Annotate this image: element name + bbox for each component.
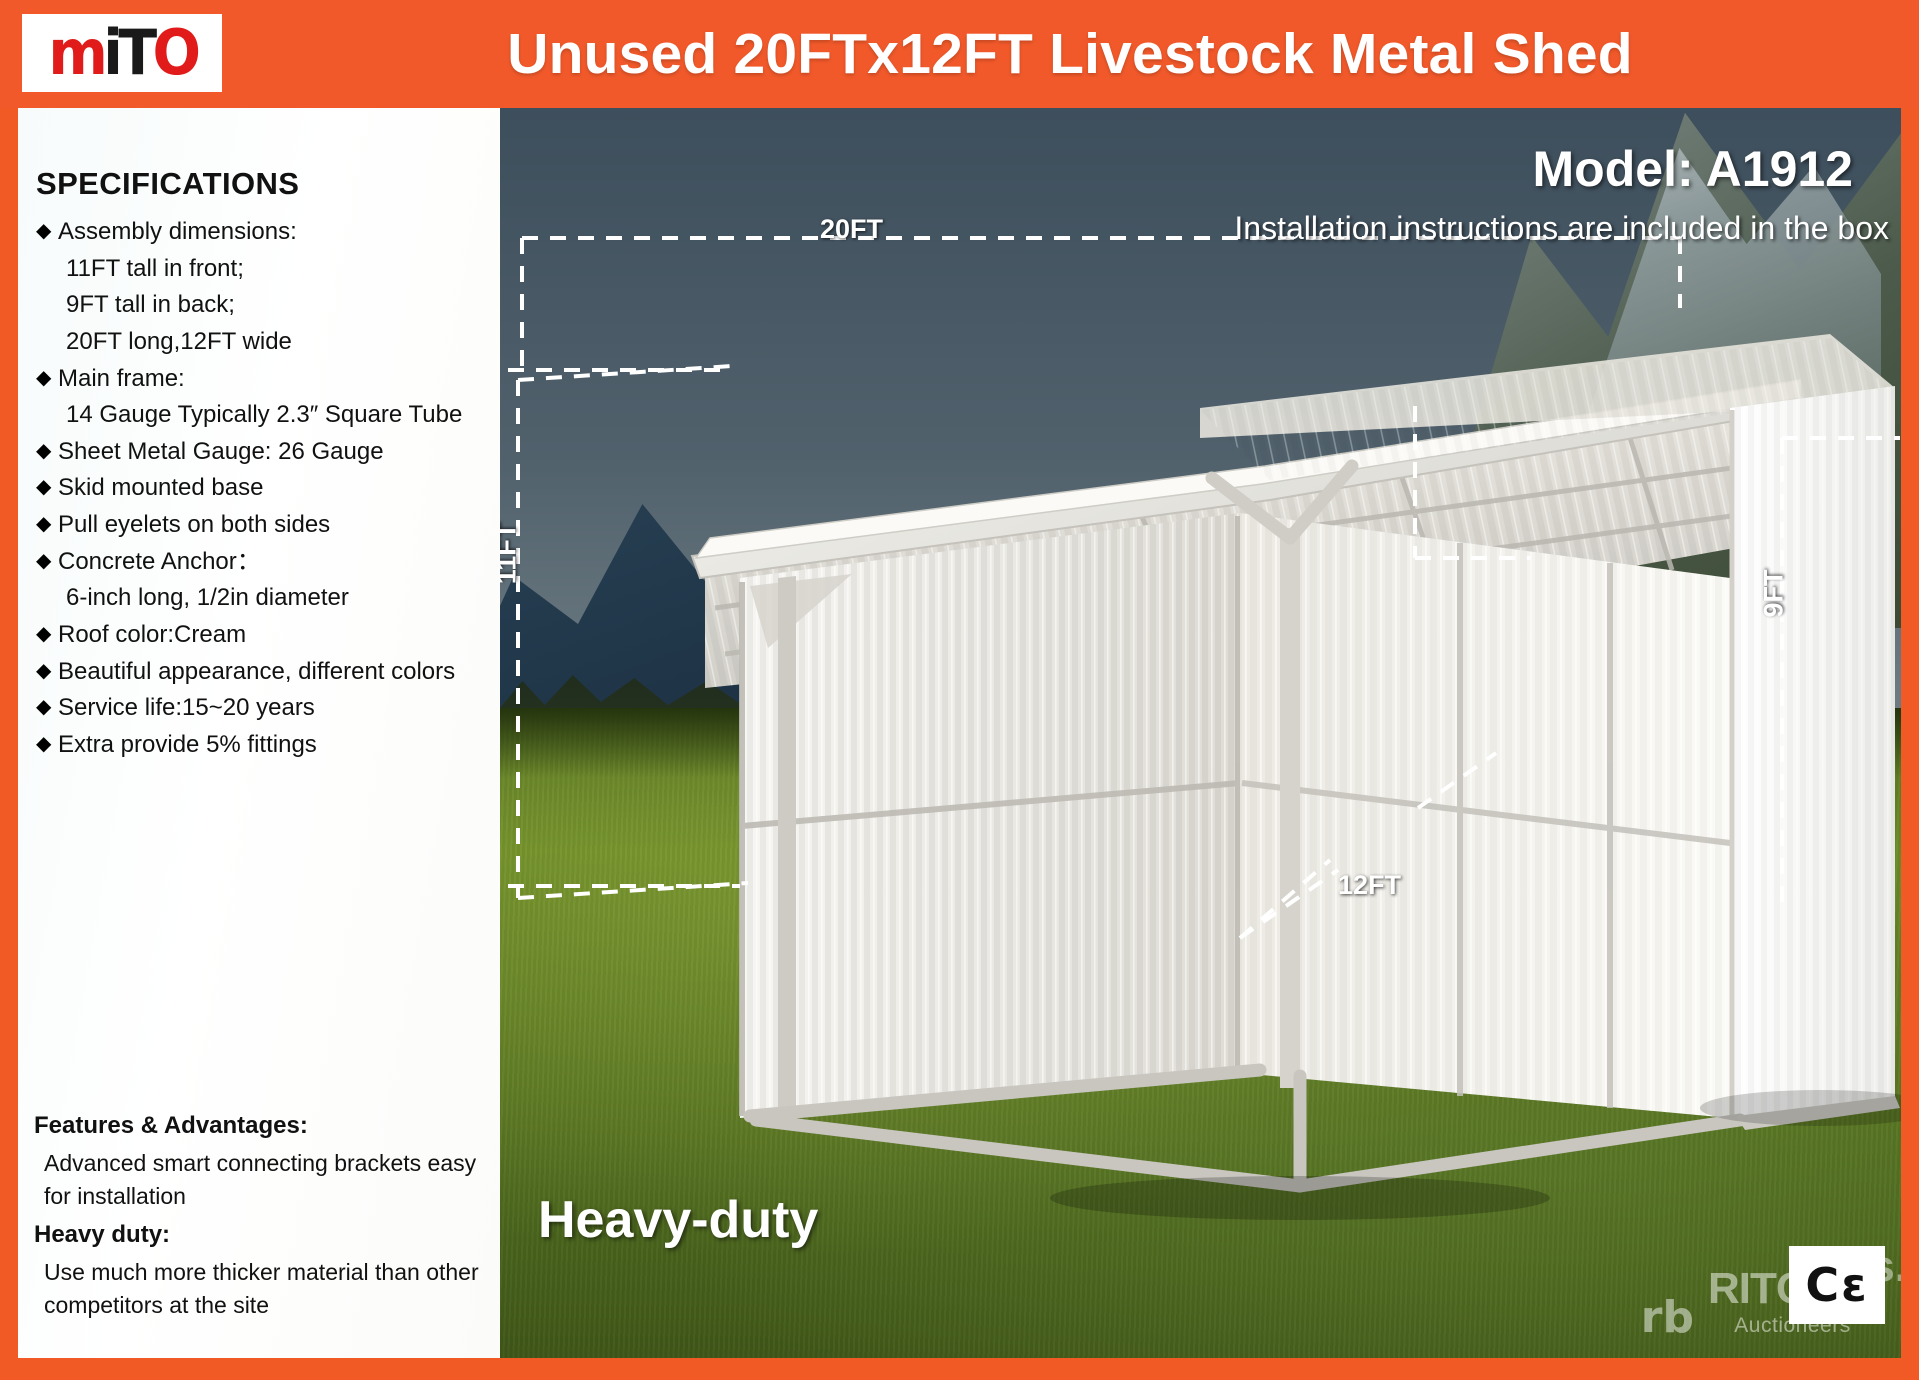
metal-shed-illustration <box>500 108 1901 1358</box>
spec-item: ◆ Sheet Metal Gauge: 26 Gauge <box>36 436 490 469</box>
ce-mark-icon: Cε <box>1805 1258 1868 1312</box>
spec-item-label: Beautiful appearance, different colors <box>58 656 490 689</box>
spec-subline: 6-inch long, 1/2in diameter <box>66 582 490 615</box>
logo-wordmark: miTO <box>48 22 196 84</box>
dimension-label-back-height: 9FT <box>1759 569 1790 617</box>
diamond-bullet-icon: ◆ <box>36 436 58 466</box>
spec-item-label: Sheet Metal Gauge: 26 Gauge <box>58 436 490 469</box>
spec-item-label: Skid mounted base <box>58 472 490 505</box>
spec-item-label: Extra provide 5% fittings <box>58 729 490 762</box>
diamond-bullet-icon: ◆ <box>36 546 58 576</box>
spec-item-label: Main frame: <box>58 363 490 396</box>
spec-item: ◆ Main frame: <box>36 363 490 396</box>
features-body: Advanced smart connecting brackets easy … <box>44 1147 492 1212</box>
heavy-duty-heading: Heavy duty: <box>34 1221 492 1249</box>
ce-mark-badge: Cε <box>1789 1246 1885 1324</box>
spec-item: ◆ Skid mounted base <box>36 472 490 505</box>
spec-subline: 20FT long,12FT wide <box>66 326 490 359</box>
model-label: Model: A1912 <box>1533 140 1853 198</box>
spec-item: ◆ Roof color:Cream <box>36 619 490 652</box>
advertisement-page: miTO Unused 20FTx12FT Livestock Metal Sh… <box>0 0 1919 1380</box>
diamond-bullet-icon: ◆ <box>36 472 58 502</box>
features-heading: Features & Advantages: <box>34 1112 492 1140</box>
specifications-panel: SPECIFICATIONS ◆ Assembly dimensions: 11… <box>18 108 500 1358</box>
spec-item: ◆ Assembly dimensions: <box>36 216 490 249</box>
spec-item-label: Concrete Anchor： <box>58 546 490 579</box>
page-header: miTO Unused 20FTx12FT Livestock Metal Sh… <box>0 0 1919 108</box>
diamond-bullet-icon: ◆ <box>36 363 58 393</box>
spec-item: ◆ Beautiful appearance, different colors <box>36 656 490 689</box>
heavy-duty-tag: Heavy-duty <box>538 1190 818 1250</box>
installation-note: Installation instructions are included i… <box>1234 210 1889 247</box>
rb-logo-icon: rb <box>1641 1296 1694 1340</box>
logo-letters-it: iT <box>103 16 152 89</box>
logo-letter-o: O <box>152 16 196 89</box>
spec-item-label: Pull eyelets on both sides <box>58 509 490 542</box>
spec-item-label: Roof color:Cream <box>58 619 490 652</box>
diamond-bullet-icon: ◆ <box>36 729 58 759</box>
spec-subline: 9FT tall in back; <box>66 289 490 322</box>
specifications-heading: SPECIFICATIONS <box>36 166 490 202</box>
spec-item-label: Service life:15~20 years <box>58 692 490 725</box>
diamond-bullet-icon: ◆ <box>36 216 58 246</box>
spec-subline: 11FT tall in front; <box>66 253 490 286</box>
product-photo: 20FT 11FT 9FT 12FT Model: A1912 Installa… <box>500 108 1901 1358</box>
spec-item: ◆ Service life:15~20 years <box>36 692 490 725</box>
features-advantages-section: Features & Advantages: Advanced smart co… <box>34 1112 492 1331</box>
dimension-label-length: 20FT <box>820 214 883 245</box>
spec-item: ◆ Pull eyelets on both sides <box>36 509 490 542</box>
specifications-list: ◆ Assembly dimensions: 11FT tall in fron… <box>36 216 490 761</box>
diamond-bullet-icon: ◆ <box>36 619 58 649</box>
heavy-duty-body: Use much more thicker material than othe… <box>44 1256 492 1321</box>
logo-letter-m: m <box>48 16 103 89</box>
diamond-bullet-icon: ◆ <box>36 656 58 686</box>
spec-item: ◆ Extra provide 5% fittings <box>36 729 490 762</box>
spec-item-label: Assembly dimensions: <box>58 216 490 249</box>
spec-item: ◆ Concrete Anchor： <box>36 546 490 579</box>
dimension-label-width: 12FT <box>1338 870 1401 901</box>
spec-subline: 14 Gauge Typically 2.3″ Square Tube <box>66 399 490 432</box>
diamond-bullet-icon: ◆ <box>36 509 58 539</box>
page-title: Unused 20FTx12FT Livestock Metal Shed <box>240 0 1900 108</box>
mito-logo: miTO <box>22 14 222 92</box>
dimension-label-front-height: 11FT <box>500 523 522 585</box>
diamond-bullet-icon: ◆ <box>36 692 58 722</box>
